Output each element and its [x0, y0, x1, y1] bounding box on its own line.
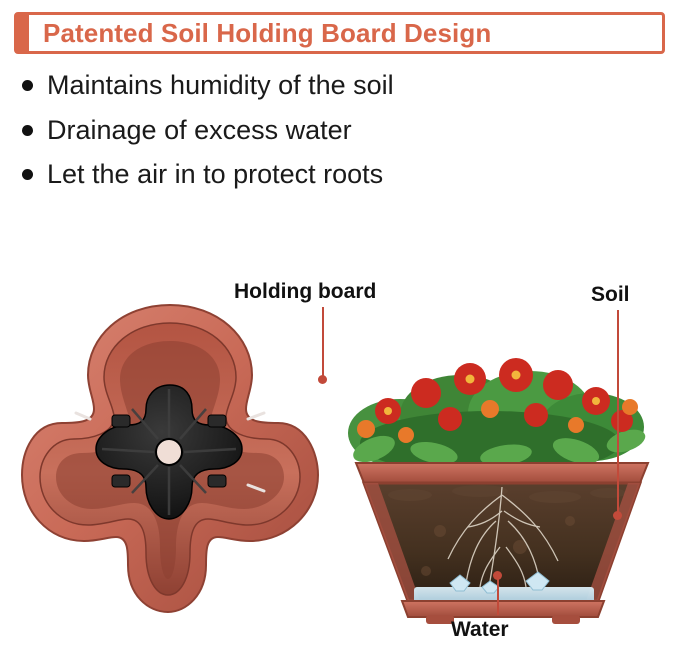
bullet-text: Drainage of excess water: [47, 113, 352, 148]
list-item: Drainage of excess water: [22, 113, 662, 148]
planter-top-view-image: [20, 297, 320, 617]
label-soil: Soil: [591, 283, 630, 307]
bullet-dot-icon: [22, 80, 33, 91]
foliage-group: [348, 371, 648, 475]
pot-cross-section-image: [330, 315, 660, 630]
bullet-text: Maintains humidity of the soil: [47, 68, 394, 103]
list-item: Maintains humidity of the soil: [22, 68, 662, 103]
list-item: Let the air in to protect roots: [22, 157, 662, 192]
bullet-dot-icon: [22, 125, 33, 136]
banner-accent-bar: [17, 15, 29, 51]
leader-line-holding-board: [322, 307, 324, 379]
header-banner: Patented Soil Holding Board Design: [14, 12, 665, 54]
leader-line-soil: [617, 310, 619, 515]
label-water: Water: [451, 618, 509, 642]
pot-rim-part: [356, 463, 648, 483]
bullet-text: Let the air in to protect roots: [47, 157, 383, 192]
leader-dot-water: [493, 571, 502, 580]
feature-bullet-list: Maintains humidity of the soil Drainage …: [22, 68, 662, 202]
pot-body-part: [364, 483, 640, 601]
label-holding-board: Holding board: [234, 280, 376, 304]
leader-dot-holding-board: [318, 375, 327, 384]
leader-dot-soil: [613, 511, 622, 520]
illustration-stage: Holding board Soil Water: [0, 255, 679, 652]
bullet-dot-icon: [22, 169, 33, 180]
leader-line-water: [497, 575, 499, 615]
page-title: Patented Soil Holding Board Design: [29, 18, 491, 49]
